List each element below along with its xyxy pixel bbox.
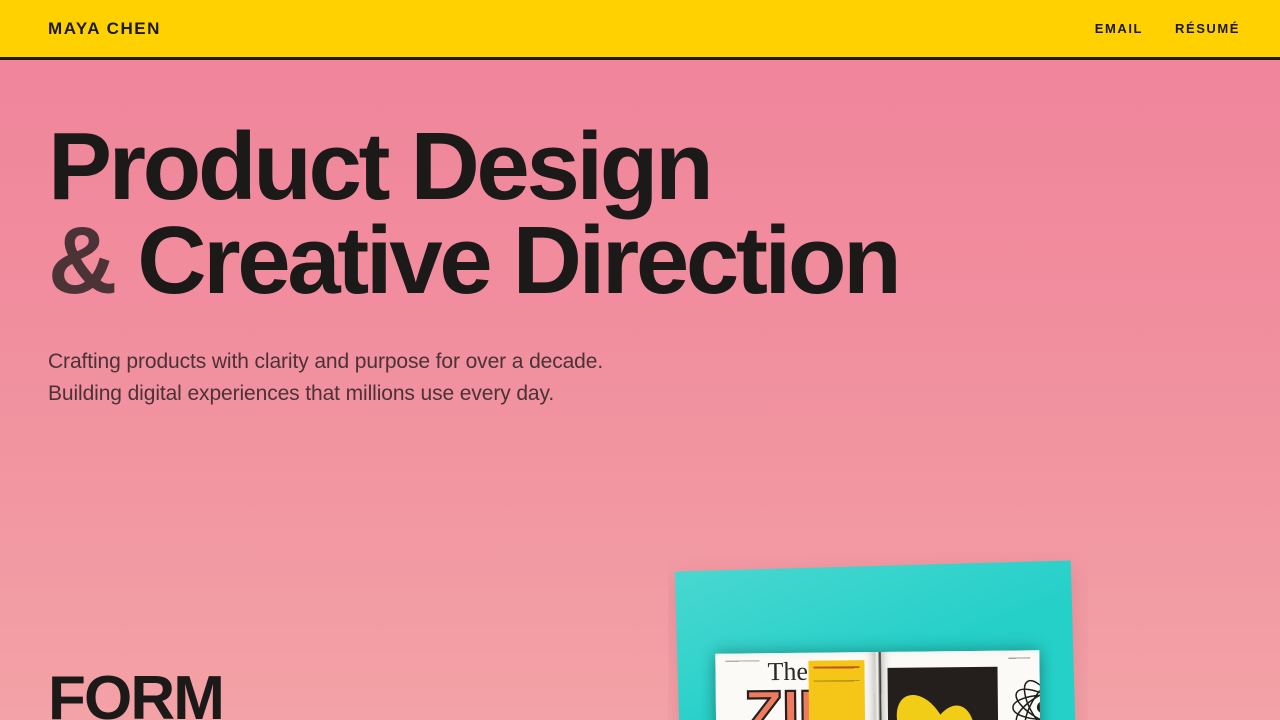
nav-link-resume[interactable]: RÉSUMÉ — [1175, 21, 1240, 36]
primary-navigation: EMAIL RÉSUMÉ — [1095, 21, 1240, 36]
subtitle-line-1: Crafting products with clarity and purpo… — [48, 346, 898, 378]
section-heading-form: FORM — [48, 668, 223, 720]
kicker-text-lines — [725, 660, 759, 667]
headline-line-2-rest: Creative Direction — [137, 207, 898, 314]
headline-line-2: & Creative Direction — [48, 214, 898, 308]
atom-diagram-icon — [1009, 674, 1041, 720]
site-header: MAYA CHEN EMAIL RÉSUMÉ — [0, 0, 1280, 60]
subtitle-line-2: Building digital experiences that millio… — [48, 378, 898, 410]
nav-link-email[interactable]: EMAIL — [1095, 21, 1143, 36]
page-title: Product Design & Creative Direction — [48, 120, 898, 308]
headline-line-1: Product Design — [48, 120, 898, 214]
page-root: MAYA CHEN EMAIL RÉSUMÉ Product Design & … — [0, 0, 1280, 720]
open-magazine: The ZIN — [715, 650, 1040, 720]
magazine-page-left: The ZIN — [715, 652, 875, 720]
ampersand-glyph: & — [48, 207, 114, 314]
brand-logo[interactable]: MAYA CHEN — [48, 19, 161, 39]
dark-image-panel — [887, 667, 998, 720]
headline-line-2-text — [114, 207, 137, 314]
yellow-column-body-lines — [813, 680, 860, 720]
page-folio-marks — [1008, 657, 1030, 663]
magazine-photo: The ZIN — [668, 552, 1088, 720]
yellow-column-title-lines — [813, 666, 859, 675]
yellow-sidebar-column — [808, 660, 865, 720]
hero-subtitle: Crafting products with clarity and purpo… — [48, 346, 898, 411]
hero-section: Product Design & Creative Direction Craf… — [48, 120, 898, 411]
magazine-page-right — [881, 650, 1041, 720]
